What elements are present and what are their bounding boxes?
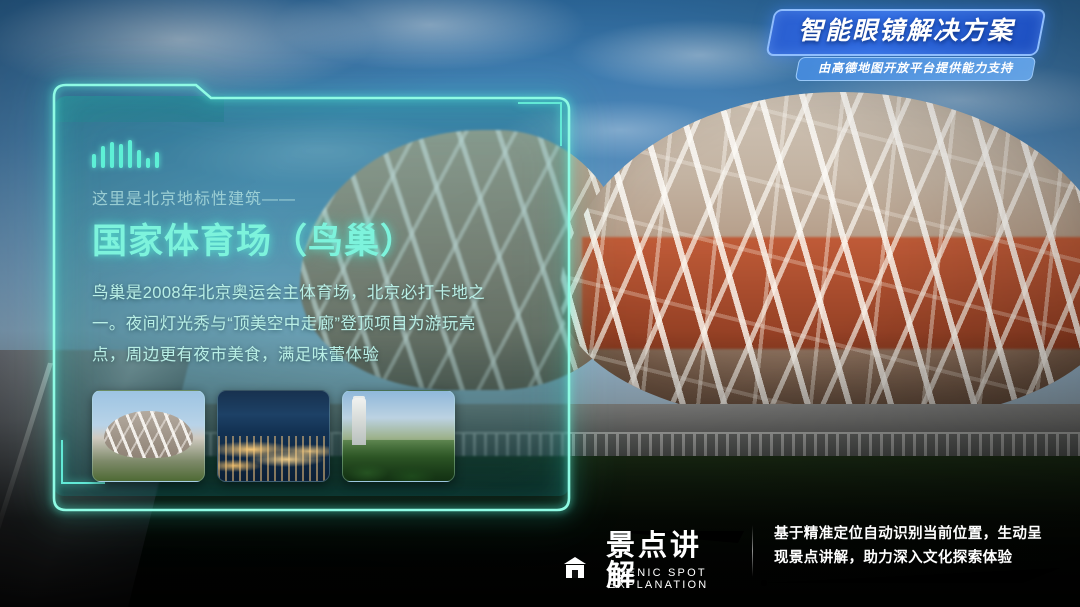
banner-description: 基于精准定位自动识别当前位置，生动呈现景点讲解，助力深入文化探索体验 (774, 523, 1052, 571)
banner-divider (752, 525, 753, 577)
audio-waveform-icon (92, 138, 551, 168)
banner-mark: 景点讲解 SCENIC SPOT EXPLANATION (560, 529, 730, 591)
scenic-info-card: 这里是北京地标性建筑—— 国家体育场（鸟巢） 鸟巢是2008年北京奥运会主体育场… (36, 80, 585, 512)
thumbnail-city-night-lights-aerial[interactable] (217, 390, 330, 482)
banner-underline-decoration (760, 567, 1070, 589)
banner-title-en: SCENIC SPOT EXPLANATION (608, 567, 730, 591)
solution-badge-sub: 由高德地图开放平台提供能力支持 (795, 57, 1037, 81)
solution-badge-main: 智能眼镜解决方案 (765, 9, 1046, 56)
scenic-explanation-banner: 景点讲解 SCENIC SPOT EXPLANATION 基于精准定位自动识别当… (560, 515, 1070, 593)
card-content: 这里是北京地标性建筑—— 国家体育场（鸟巢） 鸟巢是2008年北京奥运会主体育场… (92, 138, 551, 482)
screenshot-stage: 智能眼镜解决方案 由高德地图开放平台提供能力支持 (0, 0, 1080, 607)
thumbnail-strip (92, 390, 551, 482)
thumbnail-olympic-park-tower-view[interactable] (342, 390, 455, 482)
card-eyebrow: 这里是北京地标性建筑—— (92, 190, 551, 209)
card-title: 国家体育场（鸟巢） (92, 221, 551, 262)
thumbnail-birds-nest-stadium-daytime[interactable] (92, 390, 205, 482)
pagoda-icon (562, 555, 588, 581)
solution-badge-title: 智能眼镜解决方案 (798, 18, 1014, 46)
card-description: 鸟巢是2008年北京奥运会主体育场，北京必打卡地之一。夜间灯光秀与“顶美空中走廊… (92, 278, 487, 370)
solution-badge-subtitle: 由高德地图开放平台提供能力支持 (818, 61, 1013, 76)
